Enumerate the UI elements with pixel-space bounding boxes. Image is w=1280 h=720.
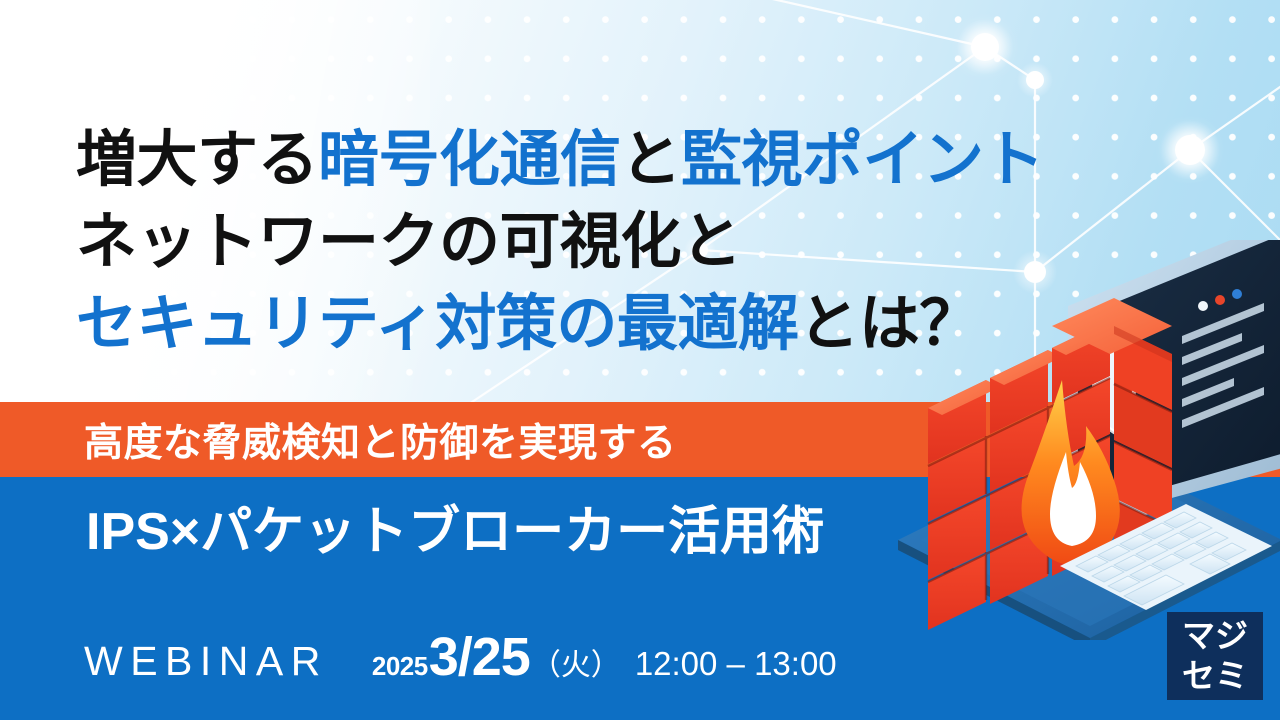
webinar-label: WEBINAR [84,641,328,682]
majisemi-logo[interactable]: マジ セミ [1167,612,1263,700]
headline-line-1: 増大する暗号化通信と監視ポイント [76,118,1136,200]
subtitle-text: 高度な脅威検知と防御を実現する [84,412,677,468]
headline-l3-seg1: セキュリティ対策の最適解 [76,289,798,357]
headline-l1-seg1: 増大する [76,125,318,193]
logo-line-2: セミ [1182,656,1248,696]
date-year: 2025 [372,651,428,682]
date-month-day: 3/25 [429,630,530,684]
headline-l1-seg4: 監視ポイント [681,125,1044,193]
footer-info: WEBINAR 2025 3/25 （火） 12:00 – 13:00 [84,630,837,684]
title-text: IPS×パケットブローカー活用術 [86,489,824,564]
date-time-range: 12:00 – 13:00 [635,645,837,683]
headline-l1-seg3: と [621,125,682,193]
headline-l2-seg1: ネットワークの可視化と [76,207,742,275]
webinar-banner: 増大する暗号化通信と監視ポイント ネットワークの可視化と セキュリティ対策の最適… [0,0,1280,720]
firewall-monitor-illustration [890,240,1280,640]
date-day-of-week: （火） [531,640,621,684]
logo-line-1: マジ [1182,616,1248,656]
date-block: 2025 3/25 （火） 12:00 – 13:00 [372,630,837,684]
headline-l1-seg2: 暗号化通信 [318,125,621,193]
